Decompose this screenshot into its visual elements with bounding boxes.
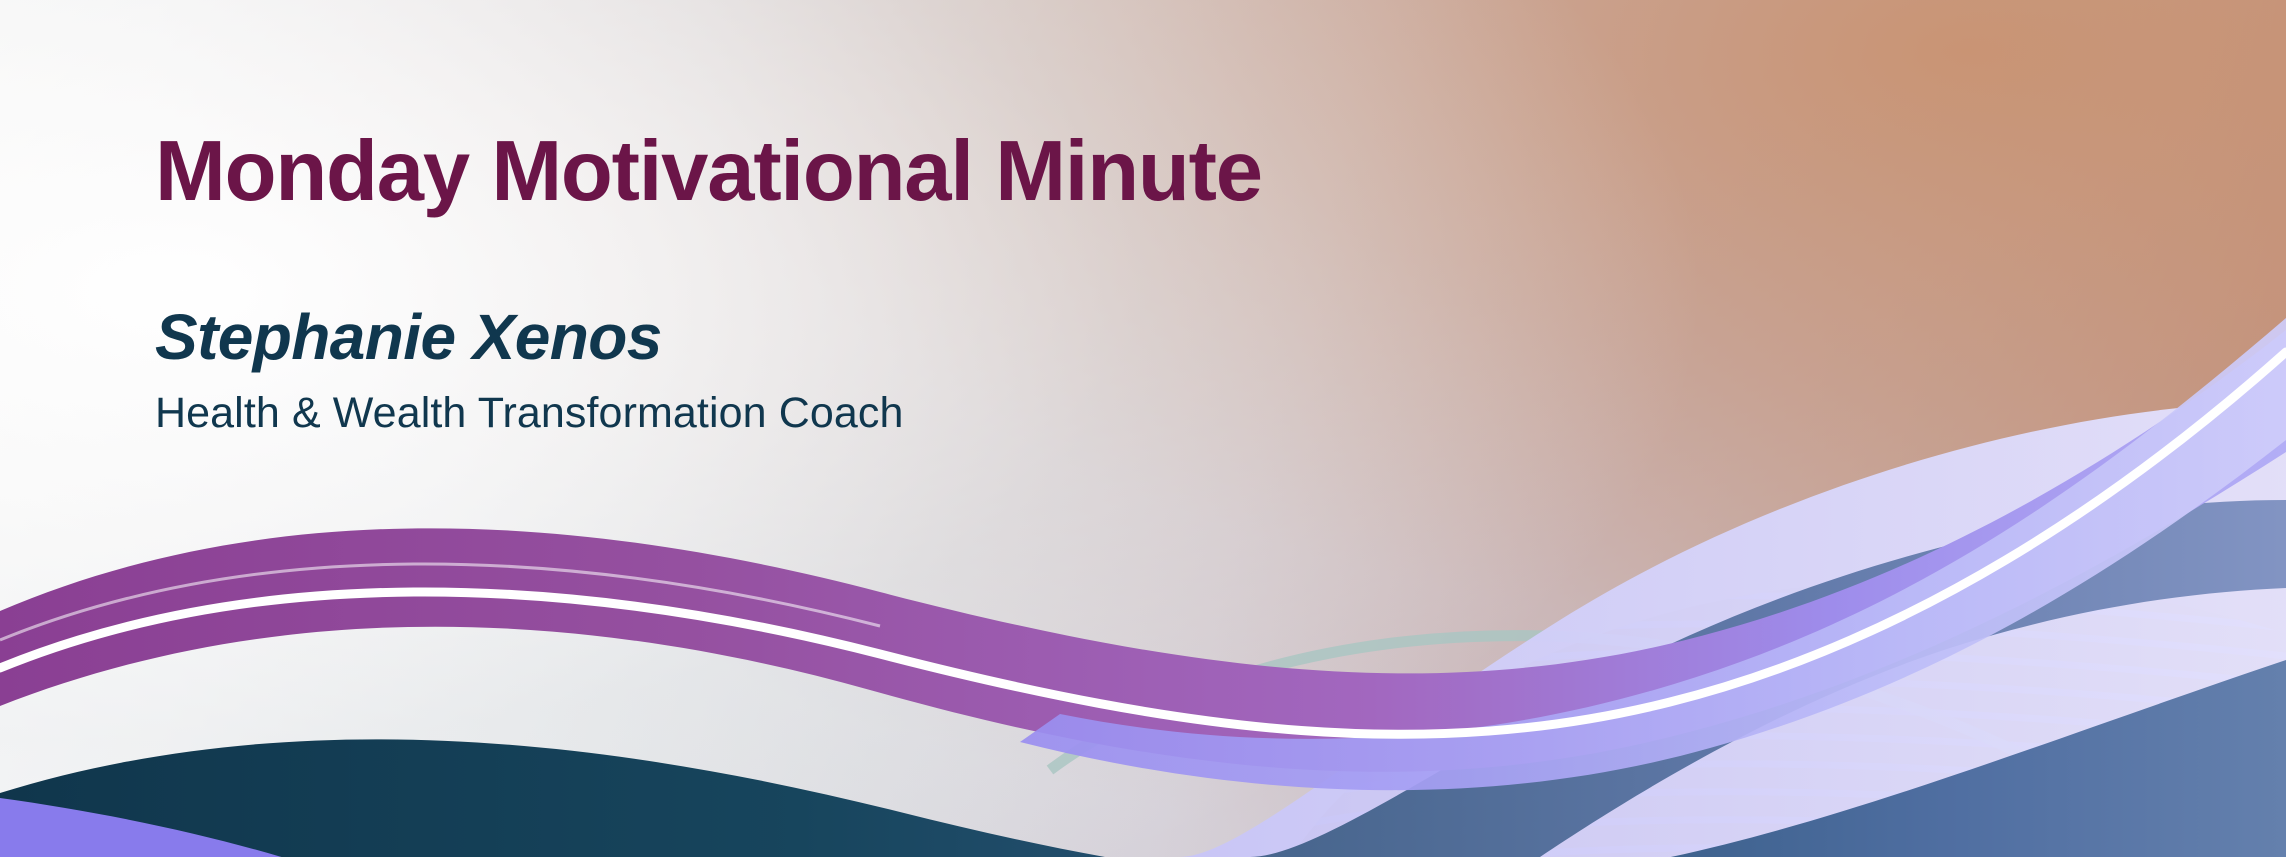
presenter-name: Stephanie Xenos <box>155 216 1262 371</box>
banner-copy-block: Monday Motivational Minute Stephanie Xen… <box>155 128 1262 437</box>
banner-root: Monday Motivational Minute Stephanie Xen… <box>0 0 2286 857</box>
presenter-role: Health & Wealth Transformation Coach <box>155 372 1262 437</box>
page-title: Monday Motivational Minute <box>155 128 1262 216</box>
